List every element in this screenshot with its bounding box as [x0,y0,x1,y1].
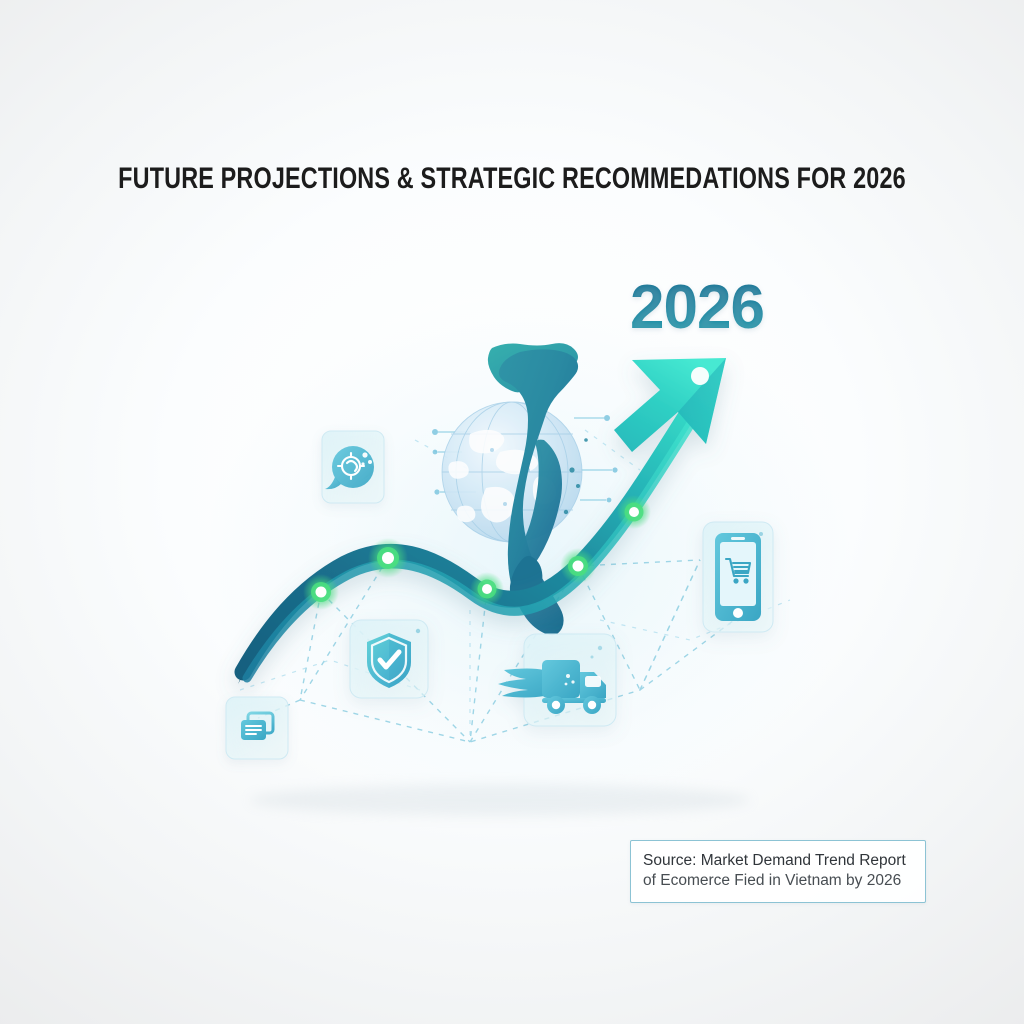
infographic-canvas: FUTURE PROJECTIONS & STRATEGIC RECOMMEDA… [0,0,1024,1024]
source-line-2: of Ecomerce Fied in Vietnam by 2026 [643,871,913,891]
curve-node-2 [368,538,408,578]
curve-node-5 [617,495,651,529]
curve-node-4 [560,548,596,584]
shield-check-icon-card[interactable] [350,620,428,698]
content-catalog-icon-card[interactable] [226,697,288,759]
delivery-truck-icon-card[interactable] [498,634,616,726]
page-title: FUTURE PROJECTIONS & STRATEGIC RECOMMEDA… [113,162,912,196]
curve-node-1 [303,574,339,610]
curve-node-3 [470,572,504,606]
headline-year: 2026 [630,272,764,343]
source-citation-box: Source: Market Demand Trend Report of Ec… [630,840,926,903]
mobile-commerce-icon-card[interactable] [703,522,773,632]
ground-shadow [250,784,750,816]
mobile-commerce-icon [715,533,761,621]
source-line-1: Source: Market Demand Trend Report [643,851,913,871]
ai-analytics-icon-card[interactable] [322,431,384,503]
